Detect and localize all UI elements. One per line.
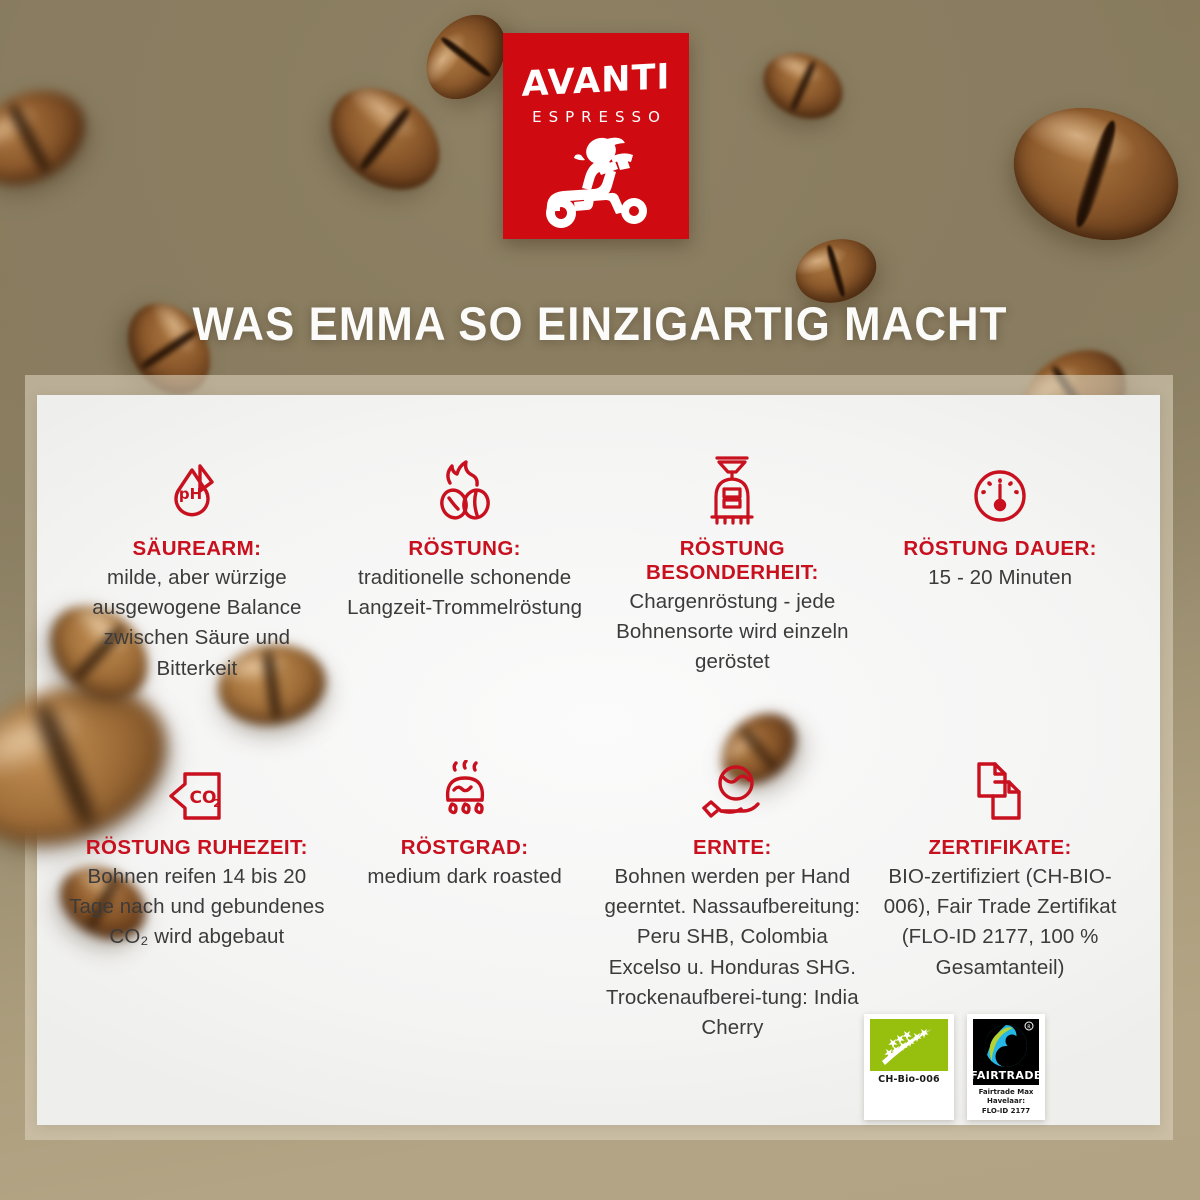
feature-body: medium dark roasted [337,862,593,892]
feature-body: Bohnen reifen 14 bis 20 Tage nach und ge… [69,862,325,953]
feature-cell-roestgrad: RÖSTGRAD: medium dark roasted [331,750,599,1185]
feature-icon-slot [872,750,1128,826]
coffee-bean-decor [996,87,1195,261]
fairtrade-badge[interactable]: R FAIRTRADE Fairtrade Max Havelaar: FLO-… [967,1014,1045,1120]
svg-text:R: R [1027,1025,1031,1031]
fairtrade-caption-line1: Fairtrade Max Havelaar: [973,1088,1039,1107]
feature-icon-slot [337,750,593,826]
logo-wordmark: AVANTI [503,56,689,106]
feature-icon-slot [605,750,861,826]
feature-cell-ruhezeit: CO 2 RÖSTUNG RUHEZEIT: Bohnen reifen 14 … [63,750,331,1185]
feature-cell-roestung: RÖSTUNG: traditionelle schonende Langzei… [331,455,599,750]
coffee-bean-decor [753,41,853,131]
feature-title: RÖSTUNG: [337,537,593,561]
feature-icon-slot: pH [69,455,325,527]
avanti-espresso-logo[interactable]: AVANTI ESPRESSO [503,33,689,239]
bio-badge-caption: CH-Bio-006 [870,1074,948,1085]
gauge-timer-icon [969,465,1031,527]
certificates-documents-icon [967,758,1033,826]
svg-text:pH: pH [179,485,202,503]
feature-cell-ernte: ERNTE: Bohnen werden per Hand geerntet. … [599,750,867,1185]
feature-icon-slot [337,455,593,527]
coffee-bean-decor [0,72,101,203]
steam-drops-icon [435,760,495,826]
fairtrade-logo-icon: R FAIRTRADE [973,1019,1039,1085]
poster-canvas: AVANTI ESPRESSO [0,0,1200,1200]
feature-title: ZERTIFIKATE: [872,836,1128,860]
feature-cell-saeurearm: pH SÄUREARM: milde, aber würzige ausgewo… [63,455,331,750]
feature-body: 15 - 20 Minuten [872,563,1128,593]
fairtrade-badge-caption: Fairtrade Max Havelaar: FLO-ID 2177 [973,1088,1039,1116]
logo-subtitle: ESPRESSO [503,108,689,126]
feature-body: milde, aber würzige ausgewogene Balance … [69,563,325,684]
page-title: WAS EMMA SO EINZIGARTIG MACHT [42,296,1158,351]
feature-title: RÖSTGRAD: [337,836,593,860]
fairtrade-caption-line2: FLO-ID 2177 [973,1107,1039,1116]
feature-icon-slot: CO 2 [69,750,325,826]
bio-badge[interactable]: CH-Bio-006 [864,1014,954,1120]
feature-body: traditionelle schonende Langzeit-Trommel… [337,563,593,624]
feature-body: Bohnen werden per Hand geerntet. Nassauf… [605,862,861,1044]
svg-text:FAIRTRADE: FAIRTRADE [973,1069,1039,1082]
certification-badges: CH-Bio-006 R FAIRTRADE Fairtrade Max Hav… [864,1014,1045,1120]
feature-cell-dauer: RÖSTUNG DAUER: 15 - 20 Minuten [866,455,1134,750]
feature-body: Chargenröstung - jede Bohnensorte wird e… [605,587,861,678]
feature-icon-slot [605,455,861,527]
feature-title: RÖSTUNG RUHEZEIT: [69,836,325,860]
feature-title: RÖSTUNG DAUER: [872,537,1128,561]
eu-organic-leaf-icon [870,1019,948,1071]
scooter-rider-icon [533,133,661,233]
feature-icon-slot [872,455,1128,527]
roasting-drum-icon [704,455,760,527]
co2-arrow-icon: CO 2 [163,768,231,826]
svg-text:2: 2 [213,797,221,810]
feature-title: SÄUREARM: [69,537,325,561]
ph-droplet-icon: pH [164,461,230,527]
feature-body: BIO-zertifiziert (CH-BIO-006), Fair Trad… [872,862,1128,983]
feature-cell-besonderheit: RÖSTUNG BESONDERHEIT: Chargenröstung - j… [599,455,867,750]
feature-title: RÖSTUNG BESONDERHEIT: [605,537,861,585]
feature-title: ERNTE: [605,836,861,860]
hand-bean-icon [696,764,768,826]
flame-beans-icon [430,459,500,527]
